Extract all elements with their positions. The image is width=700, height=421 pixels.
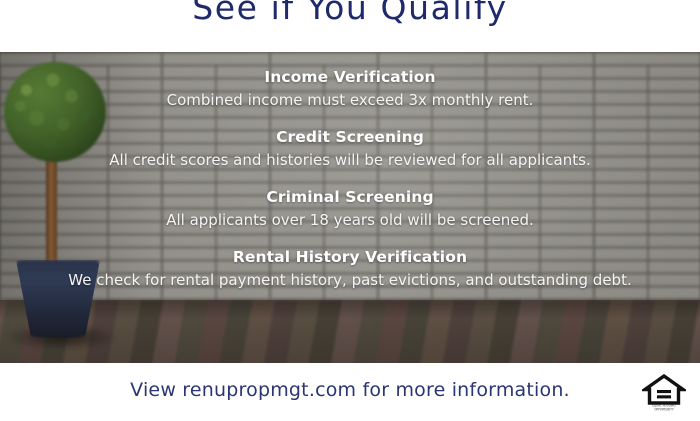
equal-housing-caption: EQUAL HOUSING OPPORTUNITY [642, 404, 686, 413]
requirement-body: Combined income must exceed 3x monthly r… [24, 90, 676, 111]
house-icon [642, 374, 686, 405]
requirement-heading: Criminal Screening [24, 187, 676, 207]
requirement-body: We check for rental payment history, pas… [24, 270, 676, 291]
requirements-list: Income Verification Combined income must… [0, 52, 700, 363]
requirement-item-rental-history-verification: Rental History Verification We check for… [0, 247, 700, 291]
website-link[interactable]: View renupropmgt.com for more informatio… [0, 379, 700, 401]
qualification-requirements-page: See if You Qualify Income Verification C… [0, 0, 700, 421]
equal-housing-opportunity-logo: EQUAL HOUSING OPPORTUNITY [642, 374, 686, 412]
footer: View renupropmgt.com for more informatio… [0, 363, 700, 421]
page-title: See if You Qualify [0, 0, 700, 28]
equal-housing-caption-line2: OPPORTUNITY [654, 409, 673, 413]
requirement-item-criminal-screening: Criminal Screening All applicants over 1… [0, 187, 700, 231]
requirement-item-income-verification: Income Verification Combined income must… [0, 67, 700, 111]
requirement-body: All credit scores and histories will be … [24, 150, 676, 171]
requirement-heading: Income Verification [24, 67, 676, 87]
title-area: See if You Qualify [0, 0, 700, 52]
requirement-body: All applicants over 18 years old will be… [24, 210, 676, 231]
requirement-heading: Rental History Verification [24, 247, 676, 267]
requirement-heading: Credit Screening [24, 127, 676, 147]
requirement-item-credit-screening: Credit Screening All credit scores and h… [0, 127, 700, 171]
hero-banner: Income Verification Combined income must… [0, 52, 700, 363]
